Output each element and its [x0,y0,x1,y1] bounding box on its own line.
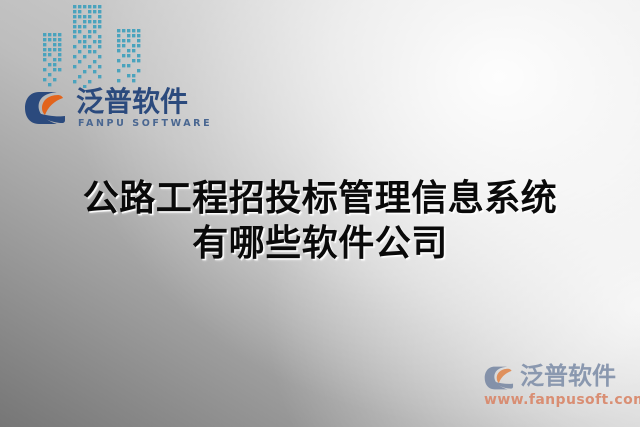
slide-canvas: 泛普软件 FANPU SOFTWARE 公路工程招投标管理信息系统 有哪些软件公… [0,0,640,427]
watermark-cn: 泛普软件 [520,361,616,391]
fanpu-logo-icon [24,90,72,126]
brand-logo-cn: 泛普软件 [76,86,188,118]
brand-logo-en: FANPU SOFTWARE [78,118,212,129]
watermark: 泛普软件 www.fanpusoft.com [482,363,632,415]
watermark-url: www.fanpusoft.com [484,392,640,408]
page-title-line-1: 公路工程招投标管理信息系统 [0,176,640,221]
page-title: 公路工程招投标管理信息系统 有哪些软件公司 [0,176,640,266]
page-title-line-2: 有哪些软件公司 [0,221,640,266]
pixel-city-skyline-icon [42,0,150,88]
fanpu-watermark-logo-icon [484,365,518,391]
brand-logo: 泛普软件 FANPU SOFTWARE [24,88,174,136]
